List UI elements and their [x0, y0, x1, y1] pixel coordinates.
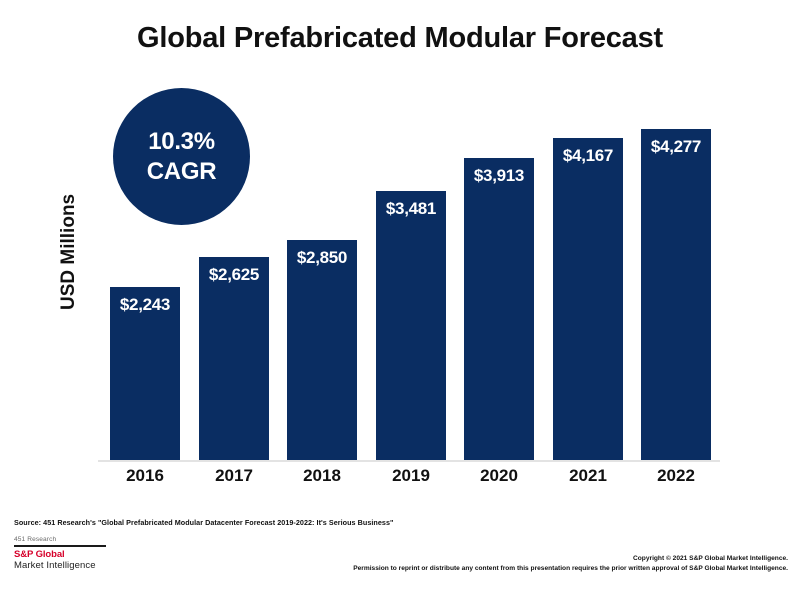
copyright-block: Copyright © 2021 S&P Global Market Intel… [353, 554, 788, 574]
bar-value-label: $2,850 [287, 248, 357, 268]
page-title: Global Prefabricated Modular Forecast [0, 22, 800, 55]
x-axis-label-2017: 2017 [199, 466, 269, 486]
logo-market-intelligence: Market Intelligence [14, 561, 126, 572]
bar-2016[interactable]: $2,243 [110, 287, 180, 460]
x-axis-label-2018: 2018 [287, 466, 357, 486]
bar-value-label: $2,243 [110, 295, 180, 315]
bar-value-label: $2,625 [199, 265, 269, 285]
bar-2022[interactable]: $4,277 [641, 129, 711, 460]
bar-value-label: $3,913 [464, 166, 534, 186]
cagr-label: CAGR [147, 157, 216, 187]
bar-value-label: $4,277 [641, 137, 711, 157]
logo-sp-global: S&P Global [14, 550, 126, 561]
logo-divider [14, 545, 106, 547]
bar-2019[interactable]: $3,481 [376, 191, 446, 460]
axis-baseline [98, 460, 720, 462]
source-citation: Source: 451 Research's "Global Prefabric… [14, 518, 393, 527]
slide-canvas: Global Prefabricated Modular Forecast US… [0, 0, 800, 600]
bar-value-label: $3,481 [376, 199, 446, 219]
y-axis-title: USD Millions [58, 280, 80, 310]
x-axis-label-2019: 2019 [376, 466, 446, 486]
bar-2017[interactable]: $2,625 [199, 257, 269, 460]
x-axis-label-2021: 2021 [553, 466, 623, 486]
bar-2018[interactable]: $2,850 [287, 240, 357, 460]
x-axis-label-2016: 2016 [110, 466, 180, 486]
copyright-notice: Copyright © 2021 S&P Global Market Intel… [353, 554, 788, 564]
cagr-value: 10.3% [148, 127, 215, 157]
brand-logo: 451 Research S&P Global Market Intellige… [14, 536, 126, 571]
bar-2021[interactable]: $4,167 [553, 138, 623, 460]
x-axis-label-2022: 2022 [641, 466, 711, 486]
permission-notice: Permission to reprint or distribute any … [353, 564, 788, 574]
cagr-bubble: 10.3% CAGR [113, 88, 250, 225]
bar-value-label: $4,167 [553, 146, 623, 166]
bar-2020[interactable]: $3,913 [464, 158, 534, 460]
logo-451-research: 451 Research [14, 536, 126, 543]
x-axis-label-2020: 2020 [464, 466, 534, 486]
